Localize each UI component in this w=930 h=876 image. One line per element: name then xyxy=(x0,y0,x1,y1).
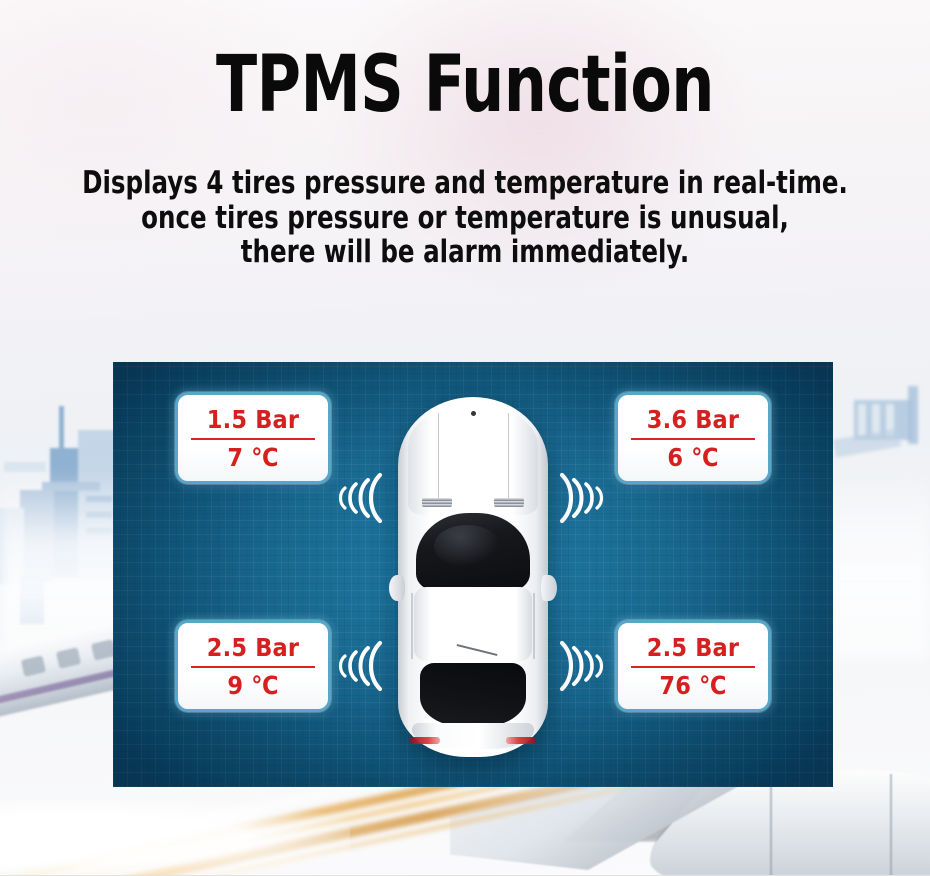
tire-pressure-rear-right: 2.5 Bar xyxy=(630,635,756,666)
tire-pressure-front-left: 1.5 Bar xyxy=(190,407,316,438)
tire-temperature-rear-left: 9 ℃ xyxy=(190,673,316,699)
page-subtitle-line-2: once tires pressure or temperature is un… xyxy=(56,201,874,236)
tire-pressure-front-right: 3.6 Bar xyxy=(630,407,756,438)
tire-readout-front-right: 3.6 Bar 6 ℃ xyxy=(615,392,771,484)
tire-readout-rear-right: 2.5 Bar 76 ℃ xyxy=(615,620,771,712)
signal-wave-front-left-icon xyxy=(324,469,386,527)
tire-temperature-front-left: 7 ℃ xyxy=(190,445,316,471)
page-title-text: TPMS Function xyxy=(65,46,865,124)
tire-readout-rear-left: 2.5 Bar 9 ℃ xyxy=(175,620,331,712)
page-subtitle-line-3: there will be alarm immediately. xyxy=(56,235,874,270)
tpms-display-panel: 1.5 Bar 7 ℃ 3.6 Bar 6 ℃ 2.5 Bar 9 ℃ 2.5 … xyxy=(113,362,833,787)
tire-temperature-front-right: 6 ℃ xyxy=(630,445,756,471)
tire-divider-rear-right xyxy=(631,666,755,668)
tpms-promo-banner: TPMS Function Displays 4 tires pressure … xyxy=(0,0,930,876)
tire-divider-front-right xyxy=(631,438,755,440)
vehicle-diagram xyxy=(318,397,628,757)
signal-wave-front-right-icon xyxy=(556,469,618,527)
page-subtitle: Displays 4 tires pressure and temperatur… xyxy=(0,166,930,270)
signal-wave-rear-right-icon xyxy=(556,637,618,695)
page-subtitle-line-1: Displays 4 tires pressure and temperatur… xyxy=(56,166,874,201)
tire-pressure-rear-left: 2.5 Bar xyxy=(190,635,316,666)
signal-wave-rear-left-icon xyxy=(324,637,386,695)
background-bottom-glow xyxy=(0,800,350,876)
tire-temperature-rear-right: 76 ℃ xyxy=(630,673,756,699)
tire-divider-rear-left xyxy=(191,666,315,668)
tire-readout-front-left: 1.5 Bar 7 ℃ xyxy=(175,392,331,484)
car-top-view-icon xyxy=(398,397,548,757)
tire-divider-front-left xyxy=(191,438,315,440)
page-title: TPMS Function xyxy=(0,46,930,124)
